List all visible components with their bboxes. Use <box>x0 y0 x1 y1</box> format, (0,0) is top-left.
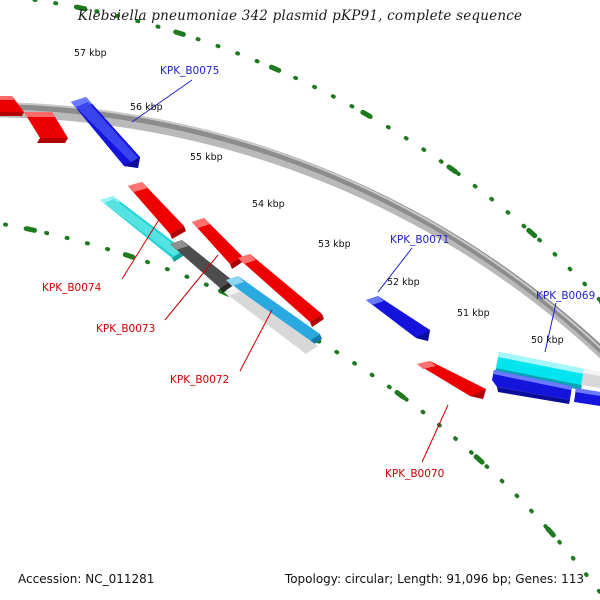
genome-map-viewer: Klebsiella pneumoniae 342 plasmid pKP91,… <box>0 0 600 600</box>
gene-label-KPK_B0072[interactable]: KPK_B0072 <box>170 374 229 386</box>
accession-text: Accession: NC_011281 <box>18 572 154 586</box>
tick-label-56kbp: 56 kbp <box>130 102 163 113</box>
tick-label-57kbp: 57 kbp <box>74 48 107 59</box>
gene-bar-KPK_B0071[interactable] <box>366 296 430 341</box>
gene-label-KPK_B0073[interactable]: KPK_B0073 <box>96 323 155 335</box>
gene-bar-unlabeled-pale-1[interactable] <box>224 288 318 354</box>
record-summary-text: Topology: circular; Length: 91,096 bp; G… <box>285 572 584 586</box>
tick-label-50kbp: 50 kbp <box>531 335 564 346</box>
tick-label-53kbp: 53 kbp <box>318 239 351 250</box>
map-title: Klebsiella pneumoniae 342 plasmid pKP91,… <box>0 8 600 24</box>
scale-tick-arc-inner <box>0 210 600 600</box>
leader-KPK_B0072 <box>240 310 272 371</box>
gene-label-KPK_B0074[interactable]: KPK_B0074 <box>42 282 101 294</box>
leader-KPK_B0073 <box>165 255 218 320</box>
tick-label-52kbp: 52 kbp <box>387 277 420 288</box>
tick-label-55kbp: 55 kbp <box>190 152 223 163</box>
gene-label-KPK_B0070[interactable]: KPK_B0070 <box>385 468 444 480</box>
gene-label-KPK_B0069[interactable]: KPK_B0069 <box>536 290 595 302</box>
tick-label-54kbp: 54 kbp <box>252 199 285 210</box>
gene-label-KPK_B0075[interactable]: KPK_B0075 <box>160 65 219 77</box>
circular-map-canvas[interactable] <box>0 0 600 600</box>
gene-bar-unlabeled-7[interactable] <box>574 388 600 406</box>
leader-KPK_B0075 <box>132 80 192 122</box>
gene-label-KPK_B0071[interactable]: KPK_B0071 <box>390 234 449 246</box>
gene-bar-KPK_B0070[interactable] <box>417 361 486 399</box>
gene-bar-unlabeled-pale-2[interactable] <box>581 369 600 388</box>
tick-label-51kbp: 51 kbp <box>457 308 490 319</box>
leader-KPK_B0070 <box>422 405 448 462</box>
